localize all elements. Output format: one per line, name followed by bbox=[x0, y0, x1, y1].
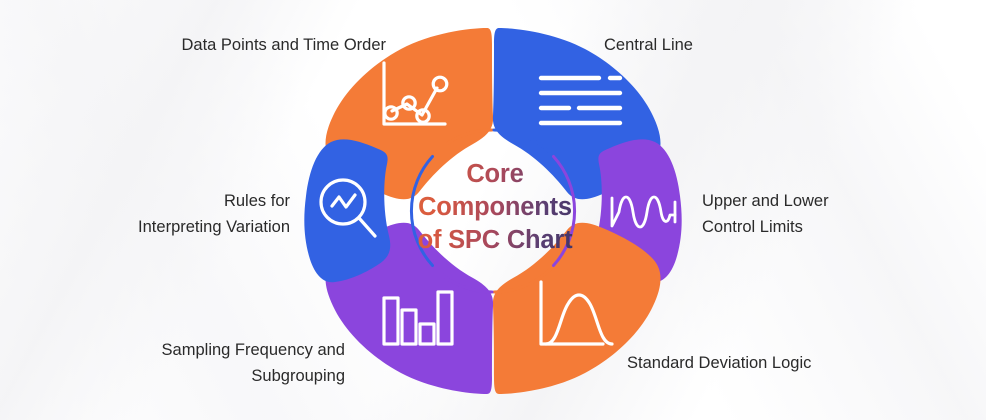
label-interpreting-rules: Rules for Interpreting Variation bbox=[60, 188, 290, 240]
segment-interpreting-rules-shape[interactable] bbox=[304, 139, 390, 282]
infographic-canvas: Core Components of SPC Chart Data Points… bbox=[0, 0, 986, 420]
label-sampling-frequency: Sampling Frequency and Subgrouping bbox=[100, 337, 345, 389]
segment-interpreting-rules[interactable] bbox=[304, 139, 390, 282]
circular-wheel-graphic bbox=[283, 16, 703, 406]
label-data-points: Data Points and Time Order bbox=[146, 32, 386, 58]
label-control-limits: Upper and Lower Control Limits bbox=[702, 188, 932, 240]
inner-ring-arcs bbox=[411, 130, 574, 292]
label-standard-deviation: Standard Deviation Logic bbox=[627, 350, 887, 376]
label-central-line: Central Line bbox=[604, 32, 844, 58]
